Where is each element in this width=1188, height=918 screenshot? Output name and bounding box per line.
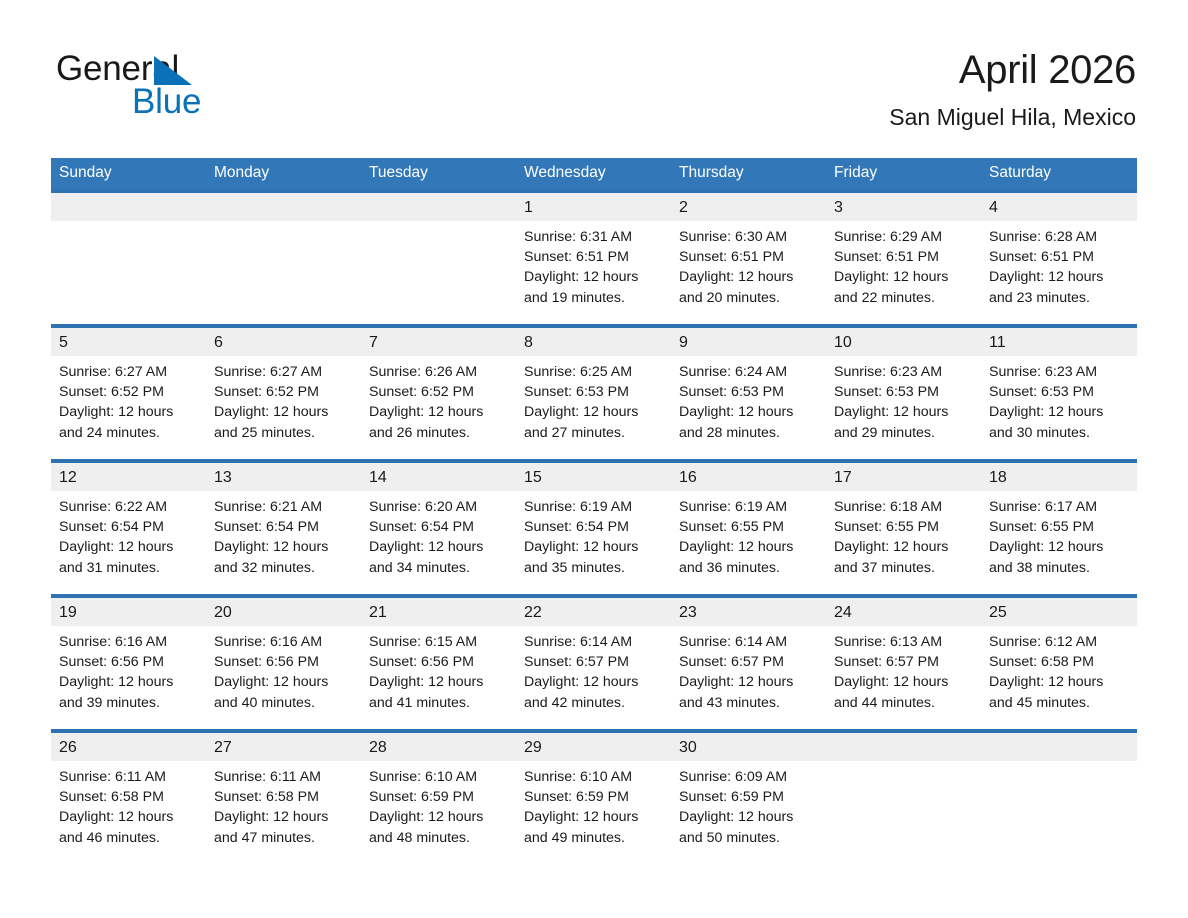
day-detail-line: Daylight: 12 hours bbox=[679, 807, 816, 827]
day-detail-line: Daylight: 12 hours bbox=[679, 672, 816, 692]
day-number-empty bbox=[206, 193, 361, 221]
day-detail-line: and 41 minutes. bbox=[369, 693, 506, 713]
day-detail-line: Sunrise: 6:19 AM bbox=[524, 497, 661, 517]
day-number-29[interactable]: 29 bbox=[516, 733, 671, 761]
day-detail-line: Sunset: 6:51 PM bbox=[834, 247, 971, 267]
day-detail-line: Sunrise: 6:25 AM bbox=[524, 362, 661, 382]
day-cell-27[interactable]: Sunrise: 6:11 AMSunset: 6:58 PMDaylight:… bbox=[206, 761, 361, 864]
weekday-header-row: Sunday Monday Tuesday Wednesday Thursday… bbox=[51, 158, 1137, 189]
day-detail-line: Sunset: 6:57 PM bbox=[834, 652, 971, 672]
day-detail-line: Daylight: 12 hours bbox=[59, 807, 196, 827]
day-cell-8[interactable]: Sunrise: 6:25 AMSunset: 6:53 PMDaylight:… bbox=[516, 356, 671, 459]
day-detail-line: Sunset: 6:58 PM bbox=[59, 787, 196, 807]
day-detail-line: Sunrise: 6:16 AM bbox=[214, 632, 351, 652]
day-cell-empty bbox=[51, 221, 206, 324]
day-number-17[interactable]: 17 bbox=[826, 463, 981, 491]
day-detail-line: Daylight: 12 hours bbox=[369, 402, 506, 422]
day-detail-line: and 37 minutes. bbox=[834, 558, 971, 578]
day-detail-line: Sunrise: 6:30 AM bbox=[679, 227, 816, 247]
day-cell-empty bbox=[826, 761, 981, 864]
day-number-3[interactable]: 3 bbox=[826, 193, 981, 221]
day-number-empty bbox=[826, 733, 981, 761]
title-block: April 2026 San Miguel Hila, Mexico bbox=[889, 46, 1136, 132]
day-detail-line: and 50 minutes. bbox=[679, 828, 816, 848]
day-cell-26[interactable]: Sunrise: 6:11 AMSunset: 6:58 PMDaylight:… bbox=[51, 761, 206, 864]
day-number-2[interactable]: 2 bbox=[671, 193, 826, 221]
day-cell-11[interactable]: Sunrise: 6:23 AMSunset: 6:53 PMDaylight:… bbox=[981, 356, 1137, 459]
day-detail-line: and 36 minutes. bbox=[679, 558, 816, 578]
day-number-16[interactable]: 16 bbox=[671, 463, 826, 491]
day-number-30[interactable]: 30 bbox=[671, 733, 826, 761]
day-cell-14[interactable]: Sunrise: 6:20 AMSunset: 6:54 PMDaylight:… bbox=[361, 491, 516, 594]
day-detail-line: Sunrise: 6:10 AM bbox=[369, 767, 506, 787]
day-detail-line: Sunrise: 6:18 AM bbox=[834, 497, 971, 517]
day-detail-line: Sunrise: 6:24 AM bbox=[679, 362, 816, 382]
day-cell-5[interactable]: Sunrise: 6:27 AMSunset: 6:52 PMDaylight:… bbox=[51, 356, 206, 459]
day-detail-line: Sunrise: 6:29 AM bbox=[834, 227, 971, 247]
day-detail-line: Sunset: 6:54 PM bbox=[524, 517, 661, 537]
day-detail-line: and 40 minutes. bbox=[214, 693, 351, 713]
day-number-18[interactable]: 18 bbox=[981, 463, 1137, 491]
day-detail-line: and 38 minutes. bbox=[989, 558, 1127, 578]
day-number-row: 12131415161718 bbox=[51, 463, 1137, 491]
day-detail-line: Sunset: 6:53 PM bbox=[989, 382, 1127, 402]
day-detail-line: Sunrise: 6:15 AM bbox=[369, 632, 506, 652]
day-detail-line: Daylight: 12 hours bbox=[834, 267, 971, 287]
day-detail-line: Sunrise: 6:22 AM bbox=[59, 497, 196, 517]
day-detail-line: Sunset: 6:53 PM bbox=[524, 382, 661, 402]
day-details-row: Sunrise: 6:27 AMSunset: 6:52 PMDaylight:… bbox=[51, 356, 1137, 459]
day-detail-line: Sunset: 6:59 PM bbox=[369, 787, 506, 807]
calendar-page: General Blue April 2026 San Miguel Hila,… bbox=[0, 0, 1188, 918]
day-detail-line: Daylight: 12 hours bbox=[834, 537, 971, 557]
day-cell-9[interactable]: Sunrise: 6:24 AMSunset: 6:53 PMDaylight:… bbox=[671, 356, 826, 459]
day-cell-17[interactable]: Sunrise: 6:18 AMSunset: 6:55 PMDaylight:… bbox=[826, 491, 981, 594]
day-detail-line: Sunrise: 6:09 AM bbox=[679, 767, 816, 787]
day-detail-line: Daylight: 12 hours bbox=[214, 672, 351, 692]
day-detail-line: Daylight: 12 hours bbox=[369, 537, 506, 557]
day-cell-16[interactable]: Sunrise: 6:19 AMSunset: 6:55 PMDaylight:… bbox=[671, 491, 826, 594]
day-cell-23[interactable]: Sunrise: 6:14 AMSunset: 6:57 PMDaylight:… bbox=[671, 626, 826, 729]
day-number-25[interactable]: 25 bbox=[981, 598, 1137, 626]
day-detail-line: and 25 minutes. bbox=[214, 423, 351, 443]
day-detail-line: Sunrise: 6:10 AM bbox=[524, 767, 661, 787]
day-number-10[interactable]: 10 bbox=[826, 328, 981, 356]
day-detail-line: Sunset: 6:57 PM bbox=[679, 652, 816, 672]
day-number-empty bbox=[361, 193, 516, 221]
day-details-row: Sunrise: 6:11 AMSunset: 6:58 PMDaylight:… bbox=[51, 761, 1137, 864]
day-number-row: 2627282930 bbox=[51, 733, 1137, 761]
day-detail-line: Daylight: 12 hours bbox=[369, 807, 506, 827]
day-detail-line: Sunset: 6:51 PM bbox=[679, 247, 816, 267]
day-number-12[interactable]: 12 bbox=[51, 463, 206, 491]
day-detail-line: Daylight: 12 hours bbox=[524, 672, 661, 692]
day-detail-line: Sunrise: 6:14 AM bbox=[524, 632, 661, 652]
day-detail-line: Daylight: 12 hours bbox=[214, 537, 351, 557]
day-number-9[interactable]: 9 bbox=[671, 328, 826, 356]
day-number-row: 19202122232425 bbox=[51, 598, 1137, 626]
day-detail-line: Sunset: 6:54 PM bbox=[369, 517, 506, 537]
page-header: General Blue April 2026 San Miguel Hila,… bbox=[0, 0, 1188, 156]
day-cell-28[interactable]: Sunrise: 6:10 AMSunset: 6:59 PMDaylight:… bbox=[361, 761, 516, 864]
day-detail-line: Sunrise: 6:23 AM bbox=[834, 362, 971, 382]
day-detail-line: and 49 minutes. bbox=[524, 828, 661, 848]
day-detail-line: and 19 minutes. bbox=[524, 288, 661, 308]
day-detail-line: Sunset: 6:52 PM bbox=[369, 382, 506, 402]
day-detail-line: Daylight: 12 hours bbox=[989, 537, 1127, 557]
day-detail-line: Sunrise: 6:14 AM bbox=[679, 632, 816, 652]
day-cell-10[interactable]: Sunrise: 6:23 AMSunset: 6:53 PMDaylight:… bbox=[826, 356, 981, 459]
location-subtitle: San Miguel Hila, Mexico bbox=[889, 102, 1136, 132]
day-number-7[interactable]: 7 bbox=[361, 328, 516, 356]
day-detail-line: Daylight: 12 hours bbox=[369, 672, 506, 692]
day-detail-line: and 45 minutes. bbox=[989, 693, 1127, 713]
day-cell-15[interactable]: Sunrise: 6:19 AMSunset: 6:54 PMDaylight:… bbox=[516, 491, 671, 594]
weekday-header-thursday: Thursday bbox=[671, 158, 826, 189]
day-detail-line: Sunrise: 6:21 AM bbox=[214, 497, 351, 517]
weekday-header-wednesday: Wednesday bbox=[516, 158, 671, 189]
day-detail-line: Sunrise: 6:13 AM bbox=[834, 632, 971, 652]
day-detail-line: Daylight: 12 hours bbox=[524, 537, 661, 557]
day-cell-18[interactable]: Sunrise: 6:17 AMSunset: 6:55 PMDaylight:… bbox=[981, 491, 1137, 594]
day-cell-3[interactable]: Sunrise: 6:29 AMSunset: 6:51 PMDaylight:… bbox=[826, 221, 981, 324]
day-number-15[interactable]: 15 bbox=[516, 463, 671, 491]
day-number-27[interactable]: 27 bbox=[206, 733, 361, 761]
day-detail-line: Sunset: 6:56 PM bbox=[59, 652, 196, 672]
day-detail-line: Sunset: 6:51 PM bbox=[989, 247, 1127, 267]
day-detail-line: Daylight: 12 hours bbox=[679, 402, 816, 422]
day-number-1[interactable]: 1 bbox=[516, 193, 671, 221]
day-detail-line: and 46 minutes. bbox=[59, 828, 196, 848]
day-cell-empty bbox=[361, 221, 516, 324]
day-detail-line: Sunset: 6:58 PM bbox=[989, 652, 1127, 672]
day-detail-line: Sunrise: 6:12 AM bbox=[989, 632, 1127, 652]
day-cell-29[interactable]: Sunrise: 6:10 AMSunset: 6:59 PMDaylight:… bbox=[516, 761, 671, 864]
day-detail-line: Sunrise: 6:23 AM bbox=[989, 362, 1127, 382]
day-details-row: Sunrise: 6:22 AMSunset: 6:54 PMDaylight:… bbox=[51, 491, 1137, 594]
day-detail-line: Sunrise: 6:11 AM bbox=[214, 767, 351, 787]
day-detail-line: Daylight: 12 hours bbox=[59, 537, 196, 557]
day-detail-line: Sunset: 6:55 PM bbox=[679, 517, 816, 537]
day-detail-line: Sunrise: 6:27 AM bbox=[214, 362, 351, 382]
day-detail-line: Daylight: 12 hours bbox=[59, 672, 196, 692]
day-detail-line: and 22 minutes. bbox=[834, 288, 971, 308]
weekday-header-sunday: Sunday bbox=[51, 158, 206, 189]
day-details-row: Sunrise: 6:16 AMSunset: 6:56 PMDaylight:… bbox=[51, 626, 1137, 729]
day-detail-line: Sunrise: 6:26 AM bbox=[369, 362, 506, 382]
day-detail-line: Sunset: 6:55 PM bbox=[834, 517, 971, 537]
day-cell-empty bbox=[981, 761, 1137, 864]
day-detail-line: Sunset: 6:56 PM bbox=[369, 652, 506, 672]
day-detail-line: Sunset: 6:58 PM bbox=[214, 787, 351, 807]
day-detail-line: and 44 minutes. bbox=[834, 693, 971, 713]
day-cell-19[interactable]: Sunrise: 6:16 AMSunset: 6:56 PMDaylight:… bbox=[51, 626, 206, 729]
day-detail-line: and 48 minutes. bbox=[369, 828, 506, 848]
day-detail-line: and 39 minutes. bbox=[59, 693, 196, 713]
day-detail-line: and 29 minutes. bbox=[834, 423, 971, 443]
day-detail-line: Sunset: 6:54 PM bbox=[59, 517, 196, 537]
day-detail-line: Sunset: 6:56 PM bbox=[214, 652, 351, 672]
day-number-empty bbox=[51, 193, 206, 221]
day-detail-line: and 27 minutes. bbox=[524, 423, 661, 443]
day-number-6[interactable]: 6 bbox=[206, 328, 361, 356]
day-cell-6[interactable]: Sunrise: 6:27 AMSunset: 6:52 PMDaylight:… bbox=[206, 356, 361, 459]
general-blue-logo: General Blue bbox=[56, 50, 316, 122]
day-detail-line: and 20 minutes. bbox=[679, 288, 816, 308]
day-detail-line: Sunset: 6:52 PM bbox=[59, 382, 196, 402]
day-detail-line: Sunrise: 6:31 AM bbox=[524, 227, 661, 247]
weekday-header-saturday: Saturday bbox=[981, 158, 1137, 189]
day-cell-24[interactable]: Sunrise: 6:13 AMSunset: 6:57 PMDaylight:… bbox=[826, 626, 981, 729]
day-detail-line: Daylight: 12 hours bbox=[989, 672, 1127, 692]
day-detail-line: Sunset: 6:51 PM bbox=[524, 247, 661, 267]
day-detail-line: and 47 minutes. bbox=[214, 828, 351, 848]
day-number-28[interactable]: 28 bbox=[361, 733, 516, 761]
day-detail-line: Daylight: 12 hours bbox=[989, 267, 1127, 287]
weekday-header-tuesday: Tuesday bbox=[361, 158, 516, 189]
day-detail-line: Daylight: 12 hours bbox=[214, 807, 351, 827]
day-detail-line: and 32 minutes. bbox=[214, 558, 351, 578]
day-detail-line: Sunrise: 6:28 AM bbox=[989, 227, 1127, 247]
day-detail-line: Sunset: 6:59 PM bbox=[679, 787, 816, 807]
day-detail-line: and 23 minutes. bbox=[989, 288, 1127, 308]
day-detail-line: Sunrise: 6:20 AM bbox=[369, 497, 506, 517]
day-number-23[interactable]: 23 bbox=[671, 598, 826, 626]
day-detail-line: and 28 minutes. bbox=[679, 423, 816, 443]
day-number-row: 1234 bbox=[51, 193, 1137, 221]
day-number-26[interactable]: 26 bbox=[51, 733, 206, 761]
day-cell-30[interactable]: Sunrise: 6:09 AMSunset: 6:59 PMDaylight:… bbox=[671, 761, 826, 864]
day-detail-line: Daylight: 12 hours bbox=[524, 807, 661, 827]
day-detail-line: Daylight: 12 hours bbox=[59, 402, 196, 422]
day-detail-line: and 31 minutes. bbox=[59, 558, 196, 578]
day-detail-line: Sunset: 6:59 PM bbox=[524, 787, 661, 807]
day-number-22[interactable]: 22 bbox=[516, 598, 671, 626]
day-detail-line: Sunset: 6:57 PM bbox=[524, 652, 661, 672]
day-detail-line: Daylight: 12 hours bbox=[679, 267, 816, 287]
day-details-row: Sunrise: 6:31 AMSunset: 6:51 PMDaylight:… bbox=[51, 221, 1137, 324]
day-detail-line: Sunrise: 6:11 AM bbox=[59, 767, 196, 787]
day-number-5[interactable]: 5 bbox=[51, 328, 206, 356]
day-cell-22[interactable]: Sunrise: 6:14 AMSunset: 6:57 PMDaylight:… bbox=[516, 626, 671, 729]
day-detail-line: Daylight: 12 hours bbox=[524, 402, 661, 422]
logo-text-blue: Blue bbox=[132, 83, 201, 121]
day-number-empty bbox=[981, 733, 1137, 761]
day-detail-line: and 24 minutes. bbox=[59, 423, 196, 443]
day-number-8[interactable]: 8 bbox=[516, 328, 671, 356]
day-detail-line: Daylight: 12 hours bbox=[214, 402, 351, 422]
day-detail-line: Sunrise: 6:17 AM bbox=[989, 497, 1127, 517]
day-detail-line: Daylight: 12 hours bbox=[524, 267, 661, 287]
calendar-grid: Sunday Monday Tuesday Wednesday Thursday… bbox=[51, 158, 1137, 864]
day-detail-line: and 34 minutes. bbox=[369, 558, 506, 578]
day-number-row: 567891011 bbox=[51, 328, 1137, 356]
day-detail-line: Sunset: 6:53 PM bbox=[834, 382, 971, 402]
weekday-header-friday: Friday bbox=[826, 158, 981, 189]
day-number-13[interactable]: 13 bbox=[206, 463, 361, 491]
day-detail-line: and 35 minutes. bbox=[524, 558, 661, 578]
day-detail-line: Sunrise: 6:27 AM bbox=[59, 362, 196, 382]
day-detail-line: and 42 minutes. bbox=[524, 693, 661, 713]
day-number-19[interactable]: 19 bbox=[51, 598, 206, 626]
day-cell-1[interactable]: Sunrise: 6:31 AMSunset: 6:51 PMDaylight:… bbox=[516, 221, 671, 324]
day-detail-line: Daylight: 12 hours bbox=[989, 402, 1127, 422]
day-cell-2[interactable]: Sunrise: 6:30 AMSunset: 6:51 PMDaylight:… bbox=[671, 221, 826, 324]
day-detail-line: Sunrise: 6:19 AM bbox=[679, 497, 816, 517]
day-cell-21[interactable]: Sunrise: 6:15 AMSunset: 6:56 PMDaylight:… bbox=[361, 626, 516, 729]
day-cell-25[interactable]: Sunrise: 6:12 AMSunset: 6:58 PMDaylight:… bbox=[981, 626, 1137, 729]
day-number-14[interactable]: 14 bbox=[361, 463, 516, 491]
day-cell-4[interactable]: Sunrise: 6:28 AMSunset: 6:51 PMDaylight:… bbox=[981, 221, 1137, 324]
day-cell-empty bbox=[206, 221, 361, 324]
day-detail-line: Sunset: 6:54 PM bbox=[214, 517, 351, 537]
weekday-header-monday: Monday bbox=[206, 158, 361, 189]
calendar-body: 1234Sunrise: 6:31 AMSunset: 6:51 PMDayli… bbox=[51, 189, 1137, 864]
day-detail-line: Sunset: 6:55 PM bbox=[989, 517, 1127, 537]
day-detail-line: and 30 minutes. bbox=[989, 423, 1127, 443]
day-number-11[interactable]: 11 bbox=[981, 328, 1137, 356]
day-number-21[interactable]: 21 bbox=[361, 598, 516, 626]
day-cell-12[interactable]: Sunrise: 6:22 AMSunset: 6:54 PMDaylight:… bbox=[51, 491, 206, 594]
day-detail-line: and 26 minutes. bbox=[369, 423, 506, 443]
day-detail-line: Sunset: 6:53 PM bbox=[679, 382, 816, 402]
day-detail-line: Sunset: 6:52 PM bbox=[214, 382, 351, 402]
day-detail-line: and 43 minutes. bbox=[679, 693, 816, 713]
day-detail-line: Sunrise: 6:16 AM bbox=[59, 632, 196, 652]
day-detail-line: Daylight: 12 hours bbox=[679, 537, 816, 557]
day-number-24[interactable]: 24 bbox=[826, 598, 981, 626]
day-number-20[interactable]: 20 bbox=[206, 598, 361, 626]
page-title: April 2026 bbox=[889, 46, 1136, 94]
day-detail-line: Daylight: 12 hours bbox=[834, 402, 971, 422]
day-cell-13[interactable]: Sunrise: 6:21 AMSunset: 6:54 PMDaylight:… bbox=[206, 491, 361, 594]
day-cell-7[interactable]: Sunrise: 6:26 AMSunset: 6:52 PMDaylight:… bbox=[361, 356, 516, 459]
day-detail-line: Daylight: 12 hours bbox=[834, 672, 971, 692]
day-number-4[interactable]: 4 bbox=[981, 193, 1137, 221]
calendar-table: Sunday Monday Tuesday Wednesday Thursday… bbox=[51, 158, 1137, 864]
day-cell-20[interactable]: Sunrise: 6:16 AMSunset: 6:56 PMDaylight:… bbox=[206, 626, 361, 729]
